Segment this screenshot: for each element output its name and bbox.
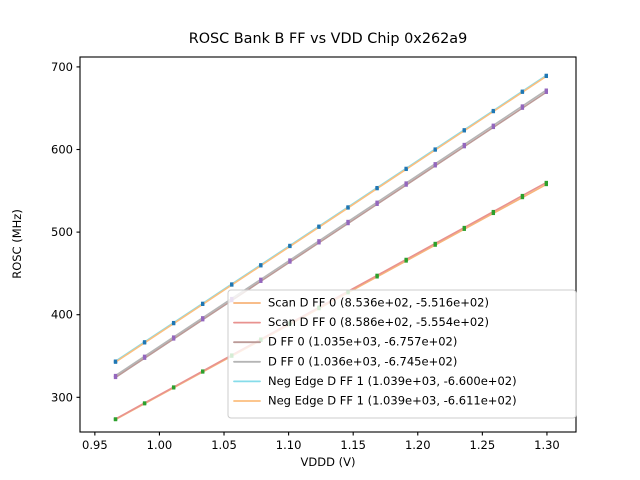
data-point — [492, 210, 495, 213]
y-tick-label: 600 — [51, 143, 73, 157]
data-point — [201, 303, 204, 306]
data-point — [492, 124, 495, 127]
data-point — [259, 264, 262, 267]
x-tick-label: 1.30 — [534, 438, 560, 452]
data-point — [172, 322, 175, 325]
data-point — [463, 129, 466, 132]
data-point — [375, 201, 378, 204]
data-point — [172, 335, 175, 338]
data-point — [434, 148, 437, 151]
matplotlib-figure: ROSC Bank B FF vs VDD Chip 0x262a9 0.951… — [0, 0, 640, 480]
data-point — [114, 417, 117, 420]
chart-title: ROSC Bank B FF vs VDD Chip 0x262a9 — [189, 31, 468, 47]
y-axis-label: ROSC (MHz) — [10, 209, 24, 279]
data-point — [114, 374, 117, 377]
data-point — [404, 258, 407, 261]
data-point — [463, 143, 466, 146]
data-point — [434, 162, 437, 165]
data-point — [259, 278, 262, 281]
legend-entry-5[interactable]: Neg Edge D FF 1 (1.039e+03, -6.611e+02) — [234, 394, 517, 408]
data-point — [346, 220, 349, 223]
legend-entry-2[interactable]: D FF 0 (1.035e+03, -6.757e+02) — [234, 335, 457, 349]
legend-label: D FF 0 (1.036e+03, -6.745e+02) — [268, 354, 457, 368]
data-point — [143, 401, 146, 404]
data-point — [463, 226, 466, 229]
y-tick-label: 400 — [51, 308, 73, 322]
data-point — [545, 75, 548, 78]
data-point — [317, 239, 320, 242]
chart-legend[interactable]: Scan D FF 0 (8.536e+02, -5.516e+02)Scan … — [228, 290, 576, 418]
data-point — [201, 369, 204, 372]
x-tick-label: 1.25 — [470, 438, 496, 452]
data-point — [521, 90, 524, 93]
data-point — [346, 206, 349, 209]
data-point — [143, 341, 146, 344]
data-point — [492, 110, 495, 113]
data-point — [404, 168, 407, 171]
data-point — [375, 274, 378, 277]
legend-label: D FF 0 (1.035e+03, -6.757e+02) — [268, 335, 457, 349]
legend-entry-1[interactable]: Scan D FF 0 (8.586e+02, -5.554e+02) — [234, 315, 489, 329]
y-tick-label: 700 — [51, 60, 73, 74]
data-point — [545, 89, 548, 92]
x-tick-label: 1.00 — [147, 438, 173, 452]
legend-label: Neg Edge D FF 1 (1.039e+03, -6.600e+02) — [268, 374, 517, 388]
data-point — [521, 104, 524, 107]
data-point — [375, 187, 378, 190]
legend-entry-0[interactable]: Scan D FF 0 (8.536e+02, -5.516e+02) — [234, 296, 489, 310]
legend-label: Neg Edge D FF 1 (1.039e+03, -6.611e+02) — [268, 394, 517, 408]
x-tick-label: 1.05 — [211, 438, 237, 452]
data-point — [143, 355, 146, 358]
legend-entry-3[interactable]: D FF 0 (1.036e+03, -6.745e+02) — [234, 354, 457, 368]
data-point — [230, 283, 233, 286]
data-point — [172, 385, 175, 388]
data-point — [201, 316, 204, 319]
x-tick-label: 1.20 — [405, 438, 431, 452]
x-tick-label: 0.95 — [82, 438, 108, 452]
legend-entry-4[interactable]: Neg Edge D FF 1 (1.039e+03, -6.600e+02) — [234, 374, 517, 388]
data-point — [545, 181, 548, 184]
data-point — [434, 242, 437, 245]
chart-canvas: ROSC Bank B FF vs VDD Chip 0x262a9 0.951… — [0, 0, 640, 480]
x-axis-label: VDDD (V) — [301, 455, 356, 469]
legend-label: Scan D FF 0 (8.586e+02, -5.554e+02) — [268, 315, 489, 329]
x-tick-label: 1.10 — [276, 438, 302, 452]
x-tick-label: 1.15 — [340, 438, 366, 452]
data-point — [288, 258, 291, 261]
data-point — [404, 181, 407, 184]
legend-label: Scan D FF 0 (8.536e+02, -5.516e+02) — [268, 296, 489, 310]
data-point — [288, 245, 291, 248]
y-tick-label: 300 — [51, 390, 73, 404]
data-point — [317, 225, 320, 228]
data-point — [114, 360, 117, 363]
data-point — [521, 194, 524, 197]
y-tick-label: 500 — [51, 225, 73, 239]
